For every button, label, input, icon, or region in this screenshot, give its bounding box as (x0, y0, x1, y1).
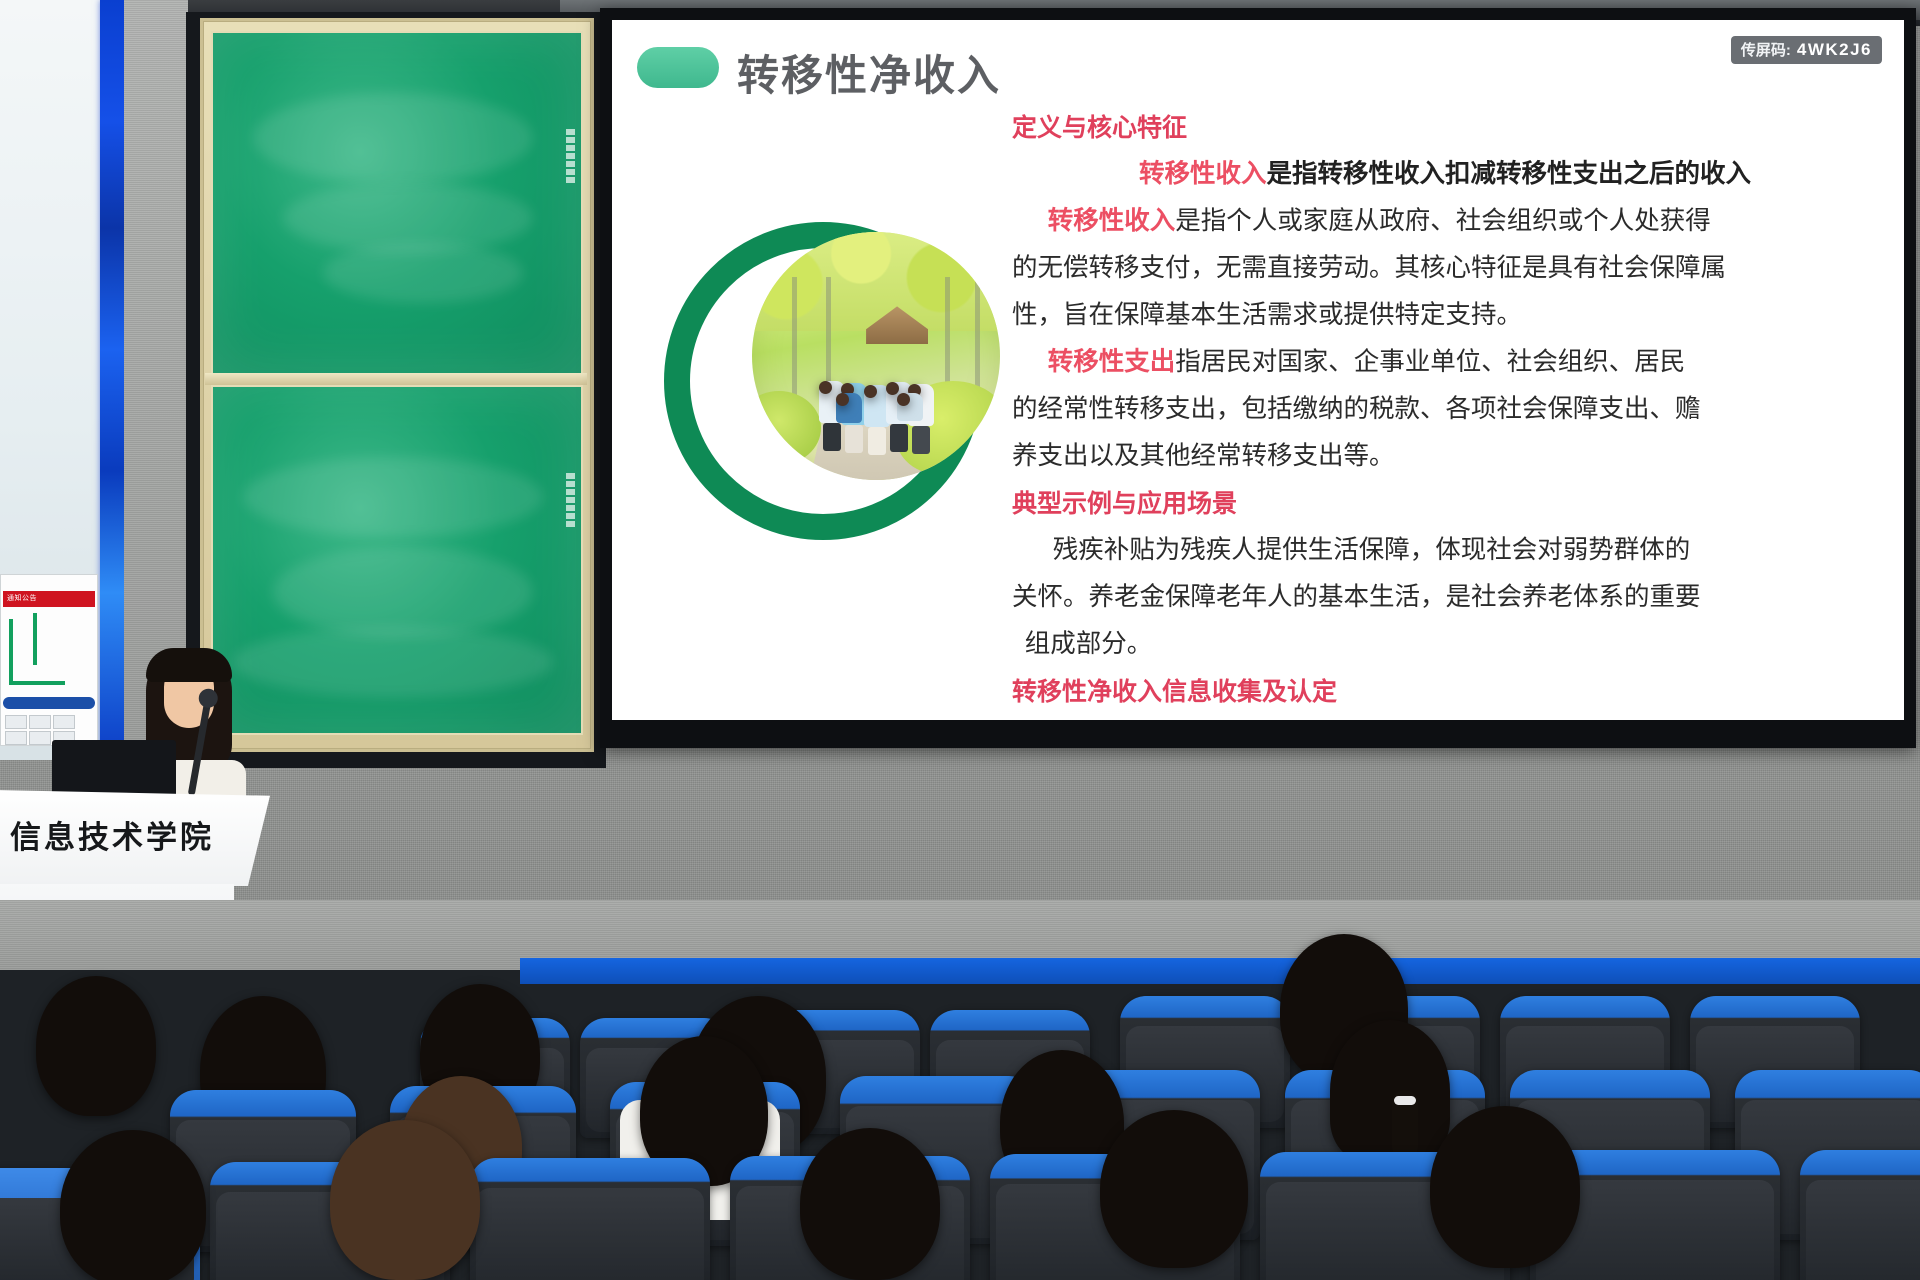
audience-head (1430, 1106, 1580, 1268)
hair-band (1394, 1096, 1416, 1105)
slide-body: 定义与核心特征 转移性收入是指转移性收入扣减转移性支出之后的收入 转移性收入是指… (1012, 104, 1878, 720)
slide-title: 转移性净收入 (737, 42, 1001, 103)
audience-head (1100, 1110, 1248, 1268)
blackboard-magnet-clips-lower (566, 473, 575, 527)
body-line-8: 残疾补贴为残疾人提供生活保障，体现社会对弱势群体的 (1012, 527, 1878, 574)
photo-students-group (816, 341, 955, 455)
blackboard-panel-lower (211, 385, 583, 735)
side-info-display: 通知公告 (0, 574, 98, 746)
lecture-hall-scene: 通知公告 转移性净收入 (0, 0, 1920, 1280)
audience-area (0, 900, 1920, 1280)
body-line-3: 的无偿转移支付，无需直接劳动。其核心特征是具有社会保障属 (1012, 245, 1878, 292)
side-display-banner: 通知公告 (3, 591, 95, 607)
screen-code-value: 4WK2J6 (1797, 40, 1872, 60)
blackboard-magnet-clips-upper (566, 129, 575, 183)
blue-light-pillar (100, 0, 124, 760)
body-line-5: 转移性支出指居民对国家、企事业单位、社会组织、居民 (1012, 339, 1878, 386)
side-display-subbanner (3, 697, 95, 709)
audience-head (1330, 1020, 1450, 1162)
audience-head (800, 1128, 940, 1280)
body-line-6: 的经常性转移支出，包括缴纳的税款、各项社会保障支出、赡 (1012, 386, 1878, 433)
blackboard-frame (200, 18, 594, 752)
keyword-transfer-income-2: 转移性收入 (1048, 206, 1176, 236)
blackboard-panel-upper (211, 31, 583, 375)
screen-code-badge: 传屏码: 4WK2J6 (1731, 36, 1882, 64)
audience-head (36, 976, 156, 1116)
audience-head (60, 1130, 206, 1280)
podium-monitor (52, 740, 176, 800)
title-accent-pill (637, 47, 719, 88)
section-heading-2: 典型示例与应用场景 (1012, 480, 1878, 527)
screen-code-label: 传屏码: (1741, 39, 1791, 60)
body-line-2: 转移性收入是指个人或家庭从政府、社会组织或个人处获得 (1012, 198, 1878, 245)
body-line-9: 关怀。养老金保障老年人的基本生活，是社会养老体系的重要 (1012, 574, 1878, 621)
body-line-7: 养支出以及其他经常转移支出等。 (1012, 433, 1878, 480)
section-heading-3: 转移性净收入信息收集及认定 (1012, 668, 1878, 715)
projection-screen[interactable]: 转移性净收入 传屏码: 4WK2J6 (612, 20, 1904, 720)
audience-head (330, 1120, 480, 1280)
body-line-8-text: 残疾补贴为残疾人提供生活保障，体现社会对弱势群体的 (1053, 535, 1691, 565)
body-line-2-rest: 是指个人或家庭从政府、社会组织或个人处获得 (1175, 206, 1711, 236)
seat (1800, 1150, 1920, 1280)
body-line-11: 由个人提供转移性收入和转移性支出的相关佐证材料， (1012, 715, 1878, 720)
keyword-transfer-income-1: 转移性收入 (1139, 159, 1267, 189)
body-line-1-rest: 是指转移性收入扣减转移性支出之后的收入 (1267, 159, 1752, 189)
keyword-transfer-expenditure: 转移性支出 (1048, 347, 1176, 377)
blackboard-center-rail (205, 373, 587, 385)
body-line-5-rest: 指居民对国家、企事业单位、社会组织、居民 (1175, 347, 1685, 377)
students-photo (752, 232, 1000, 480)
side-display-banner-label: 通知公告 (3, 591, 95, 607)
body-line-10: 组成部分。 (1012, 621, 1878, 668)
audience-blue-band (520, 958, 1920, 984)
body-line-4: 性，旨在保障基本生活需求或提供特定支持。 (1012, 292, 1878, 339)
seat (470, 1158, 710, 1280)
body-line-1: 转移性收入是指转移性收入扣减转移性支出之后的收入 (1012, 151, 1878, 198)
side-display-diagram (9, 619, 65, 685)
podium-label: 信息技术学院 (10, 812, 240, 857)
side-display-boxes (5, 715, 95, 743)
section-heading-1: 定义与核心特征 (1012, 104, 1878, 151)
